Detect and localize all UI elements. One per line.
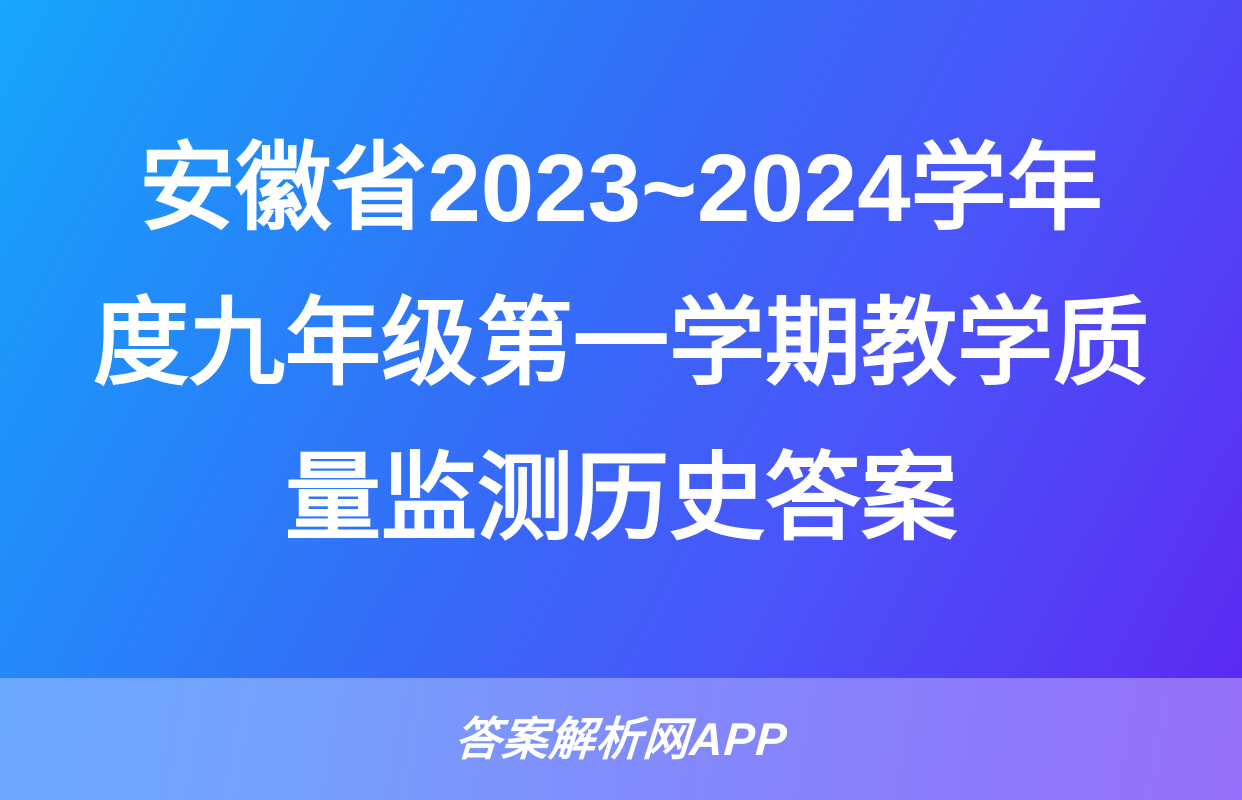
title-line-2: 度九年级第一学期教学质 — [0, 266, 1242, 421]
footer-watermark-band: 答案解析网APP — [0, 678, 1242, 800]
app-watermark-label: 答案解析网APP — [453, 716, 789, 762]
title-line-3: 量监测历史答案 — [0, 421, 1242, 576]
cover-banner: 安徽省2023~2024学年 度九年级第一学期教学质 量监测历史答案 答案解析网… — [0, 0, 1242, 800]
page-title: 安徽省2023~2024学年 度九年级第一学期教学质 量监测历史答案 — [0, 0, 1242, 678]
title-line-1: 安徽省2023~2024学年 — [0, 111, 1242, 266]
